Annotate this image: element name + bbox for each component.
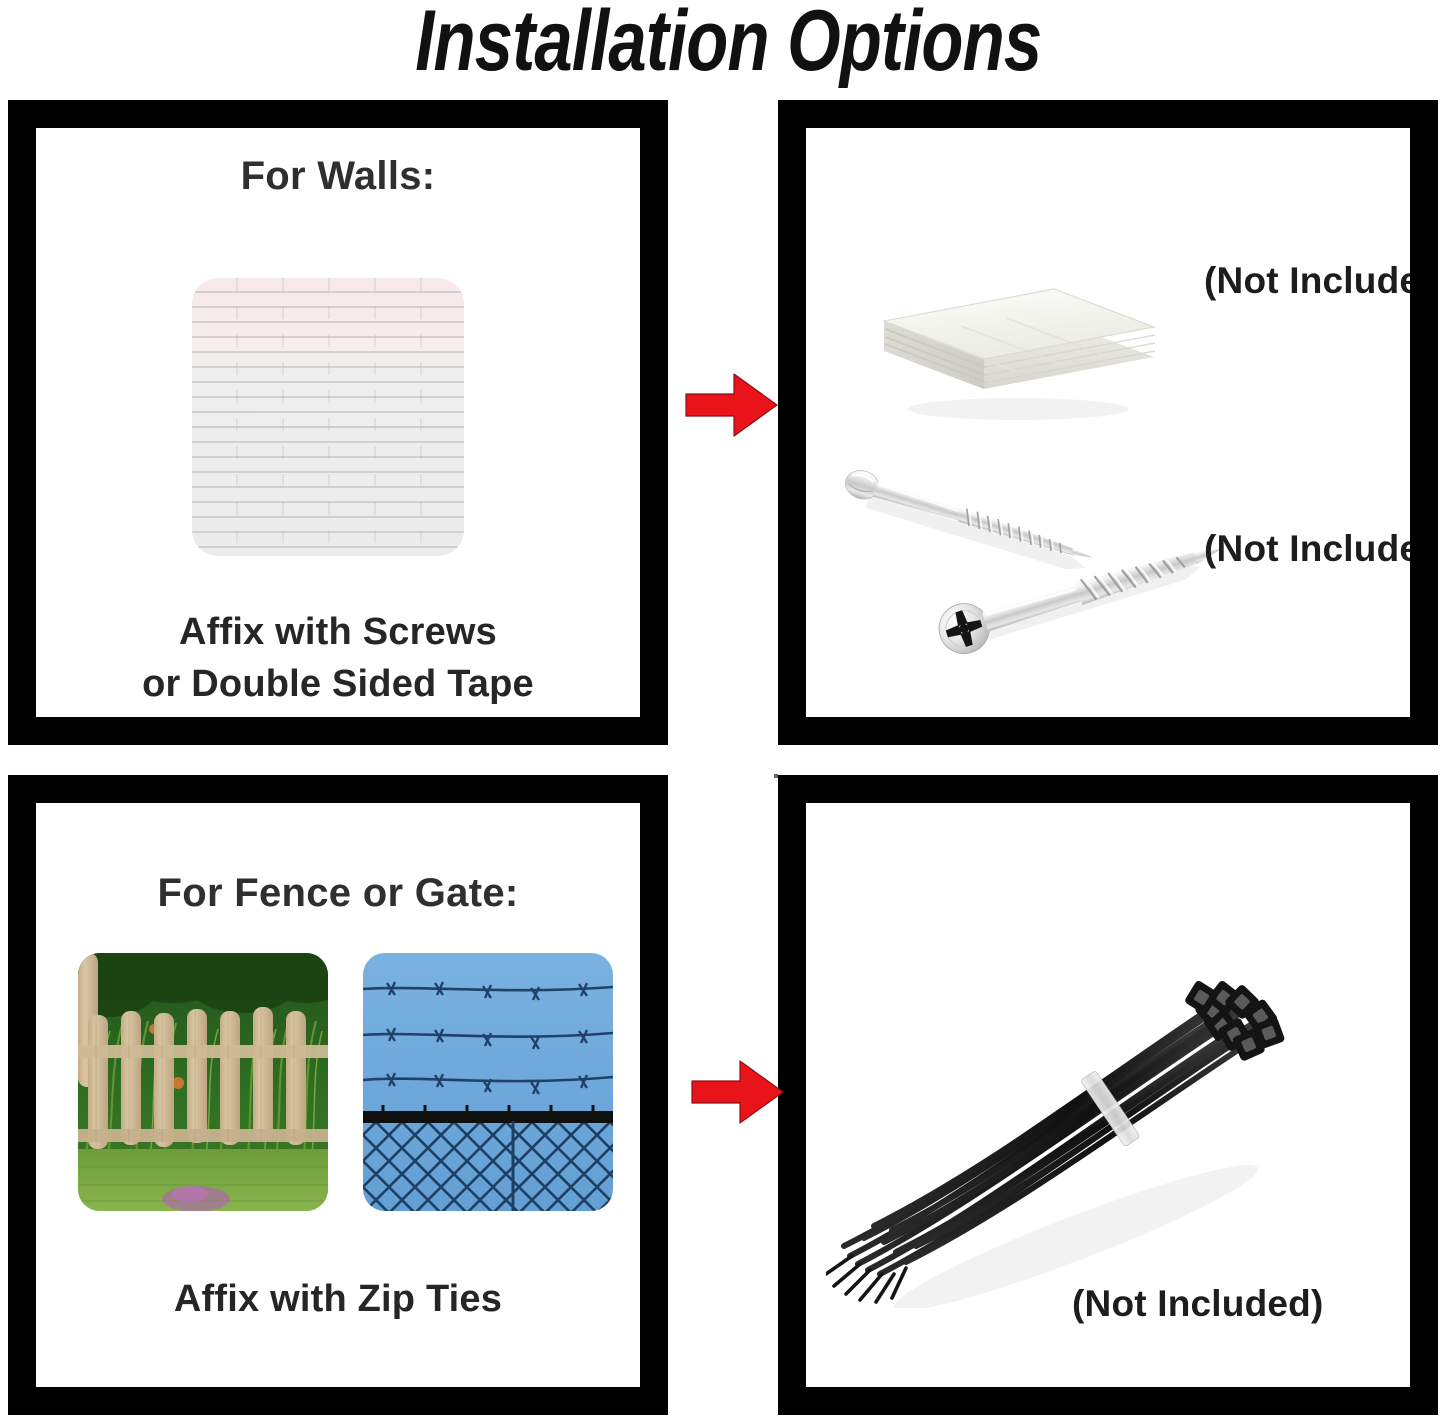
panel-wall-hardware: (Not Included)	[778, 100, 1438, 745]
panel-zip-ties-content: (Not Included)	[806, 803, 1410, 1387]
page-title: Installation Options	[150, 0, 1306, 87]
zipties-not-included-label: (Not Included)	[1072, 1283, 1323, 1325]
black-zip-ties-bundle-image	[826, 908, 1346, 1308]
wooden-picket-fence-photo	[78, 953, 328, 1211]
for-walls-caption: Affix with Screws or Double Sided Tape	[36, 606, 640, 711]
red-right-arrow-icon-top	[684, 368, 780, 442]
screws-not-included-label: (Not Included)	[1204, 528, 1438, 570]
panel-for-fence-or-gate: For Fence or Gate:	[8, 775, 668, 1415]
for-fence-caption: Affix with Zip Ties	[36, 1273, 640, 1325]
double-sided-tape-stack-image	[866, 243, 1166, 428]
panel-for-walls: For Walls: Affix with Screws or Double S…	[8, 100, 668, 745]
white-brick-wall-image	[192, 278, 464, 556]
red-right-arrow-icon-bottom	[690, 1055, 786, 1129]
installation-options-infographic: Installation Options For Walls: Affix wi…	[0, 0, 1445, 1422]
image-artifact-speck	[774, 774, 778, 778]
panel-for-fence-or-gate-content: For Fence or Gate:	[36, 803, 640, 1387]
for-fence-heading: For Fence or Gate:	[36, 871, 640, 916]
for-walls-heading: For Walls:	[36, 154, 640, 199]
panel-zip-ties: (Not Included)	[778, 775, 1438, 1415]
panel-for-walls-content: For Walls: Affix with Screws or Double S…	[36, 128, 640, 717]
for-walls-caption-line-1: Affix with Screws	[36, 606, 640, 658]
tape-not-included-label: (Not Included)	[1204, 260, 1438, 302]
for-walls-caption-line-2: or Double Sided Tape	[36, 658, 640, 710]
chain-link-fence-photo	[363, 953, 613, 1211]
panel-wall-hardware-content: (Not Included)	[806, 128, 1410, 717]
for-fence-caption-line-1: Affix with Zip Ties	[36, 1273, 640, 1325]
